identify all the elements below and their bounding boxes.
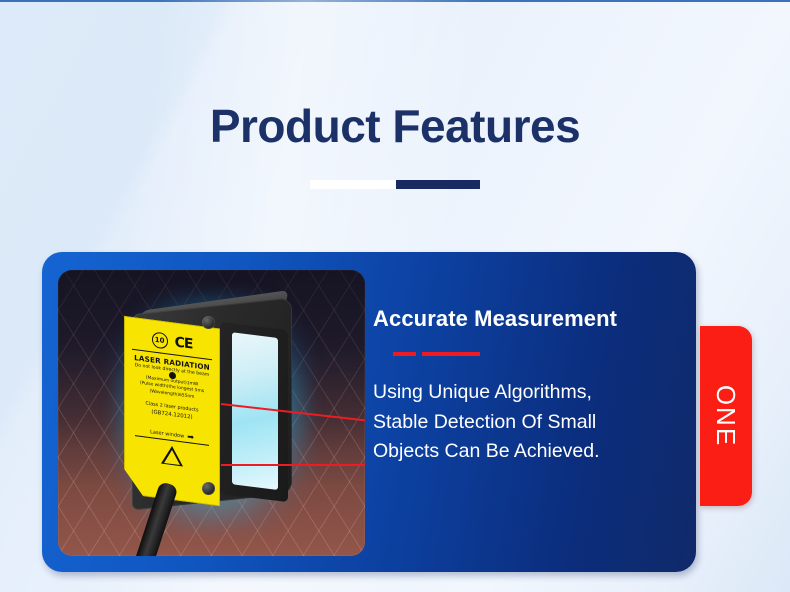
feature-heading: Accurate Measurement bbox=[373, 306, 683, 332]
warning-label: 10 CE LASER RADIATION Do not look direct… bbox=[124, 316, 220, 507]
sensor-screw-top bbox=[202, 316, 215, 329]
top-rule-divider bbox=[0, 0, 790, 2]
slide-page: Product Features 10 CE bbox=[0, 0, 790, 592]
lens-frame bbox=[220, 322, 288, 502]
title-divider-light-segment bbox=[310, 180, 396, 189]
rohs-icon: 10 bbox=[152, 331, 168, 349]
label-certification-marks: 10 CE bbox=[129, 328, 215, 355]
title-divider-dark-segment bbox=[396, 180, 480, 189]
feature-number-label: ONE bbox=[700, 326, 752, 506]
feature-accent-divider bbox=[393, 352, 683, 356]
feature-description-line: Objects Can Be Achieved. bbox=[373, 437, 683, 467]
title-divider bbox=[310, 180, 480, 189]
product-photo: 10 CE LASER RADIATION Do not look direct… bbox=[58, 270, 365, 556]
feature-description-line: Using Unique Algorithms, bbox=[373, 378, 683, 408]
sensor-screw-bottom bbox=[202, 482, 215, 495]
lens-window-glass bbox=[232, 332, 278, 490]
page-title: Product Features bbox=[0, 100, 790, 153]
feature-text-block: Accurate Measurement Using Unique Algori… bbox=[373, 306, 683, 467]
feature-description: Using Unique Algorithms, Stable Detectio… bbox=[373, 378, 683, 467]
laser-beam-line-lower bbox=[221, 464, 365, 466]
ce-mark-icon: CE bbox=[175, 334, 193, 352]
arrow-right-icon: ➡ bbox=[187, 433, 194, 442]
laser-warning-triangle-icon bbox=[161, 445, 183, 467]
feature-description-line: Stable Detection Of Small bbox=[373, 408, 683, 438]
feature-number-tab[interactable]: ONE bbox=[700, 326, 752, 506]
accent-dash-long bbox=[422, 352, 480, 356]
accent-dash-short bbox=[393, 352, 416, 356]
feature-card[interactable]: 10 CE LASER RADIATION Do not look direct… bbox=[42, 252, 696, 572]
label-laser-window-row: Laser window ➡ bbox=[129, 426, 215, 445]
